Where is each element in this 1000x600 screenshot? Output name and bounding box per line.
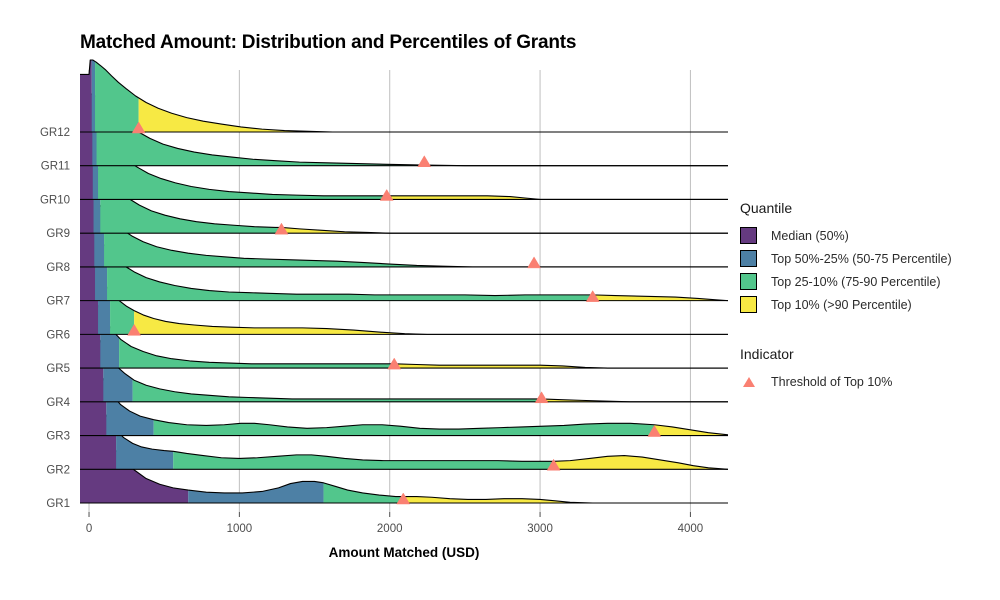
ridge-band-q2 xyxy=(92,60,95,132)
triangle-marker-icon xyxy=(740,377,757,387)
legend-item-quantile[interactable]: Top 50%-25% (50-75 Percentile) xyxy=(740,247,990,270)
y-tick-label-GR11: GR11 xyxy=(41,161,70,173)
legend-title-indicator: Indicator xyxy=(740,346,990,362)
y-tick-label-GR10: GR10 xyxy=(40,194,70,206)
legend-group-quantile: Median (50%)Top 50%-25% (50-75 Percentil… xyxy=(740,224,990,316)
legend-label-quantile: Top 10% (>90 Percentile) xyxy=(771,298,912,312)
y-tick-label-GR7: GR7 xyxy=(46,296,70,308)
x-tick-label: 1000 xyxy=(227,523,253,535)
legend-item-quantile[interactable]: Top 25-10% (75-90 Percentile) xyxy=(740,270,990,293)
x-tick-label: 2000 xyxy=(377,523,403,535)
legend-label-quantile: Top 25-10% (75-90 Percentile) xyxy=(771,275,941,289)
legend-item-quantile[interactable]: Top 10% (>90 Percentile) xyxy=(740,293,990,316)
legend-swatch-2 xyxy=(740,273,757,290)
chart-page: Matched Amount: Distribution and Percent… xyxy=(0,0,1000,600)
y-tick-label-GR9: GR9 xyxy=(46,228,70,240)
y-tick-label-GR1: GR1 xyxy=(46,498,70,510)
legend-label-quantile: Top 50%-25% (50-75 Percentile) xyxy=(771,252,952,266)
ridgelines xyxy=(80,60,728,504)
y-tick-label-GR3: GR3 xyxy=(46,431,70,443)
x-axis: 01000200030004000Amount Matched (USD) xyxy=(86,512,703,560)
ridge-band-q4 xyxy=(139,98,728,132)
threshold-marker-GR10[interactable] xyxy=(380,189,393,200)
chart-legend: Quantile Median (50%)Top 50%-25% (50-75 … xyxy=(740,200,990,393)
legend-label-indicator: Threshold of Top 10% xyxy=(771,375,892,389)
legend-swatch-0 xyxy=(740,227,757,244)
legend-item-indicator[interactable]: Threshold of Top 10% xyxy=(740,370,990,393)
y-tick-label-GR6: GR6 xyxy=(46,329,70,341)
x-axis-title: Amount Matched (USD) xyxy=(329,545,480,560)
ridge-band-q3 xyxy=(154,420,655,436)
y-axis: GR1GR2GR3GR4GR5GR6GR7GR8GR9GR10GR11GR12 xyxy=(40,127,71,510)
legend-spacer xyxy=(740,316,990,346)
legend-group-indicator: Threshold of Top 10% xyxy=(740,370,990,393)
legend-title-quantile: Quantile xyxy=(740,200,990,216)
ridge-band-q3 xyxy=(95,61,139,132)
x-tick-label: 3000 xyxy=(527,523,553,535)
y-tick-label-GR2: GR2 xyxy=(46,464,70,476)
ridge-band-q1 xyxy=(80,60,92,132)
x-tick-label: 0 xyxy=(86,523,92,535)
threshold-marker-GR11[interactable] xyxy=(418,156,431,167)
legend-item-quantile[interactable]: Median (50%) xyxy=(740,224,990,247)
legend-label-quantile: Median (50%) xyxy=(771,229,849,243)
x-tick-label: 4000 xyxy=(678,523,704,535)
threshold-marker-GR4[interactable] xyxy=(535,392,548,403)
legend-swatch-1 xyxy=(740,250,757,267)
threshold-marker-GR8[interactable] xyxy=(528,257,541,268)
legend-swatch-3 xyxy=(740,296,757,313)
y-tick-label-GR5: GR5 xyxy=(46,363,70,375)
ridge-band-q4 xyxy=(134,311,728,335)
y-tick-label-GR4: GR4 xyxy=(46,397,70,409)
ridge-row-GR12 xyxy=(80,60,728,133)
y-tick-label-GR8: GR8 xyxy=(46,262,70,274)
y-tick-label-GR12: GR12 xyxy=(40,127,70,139)
